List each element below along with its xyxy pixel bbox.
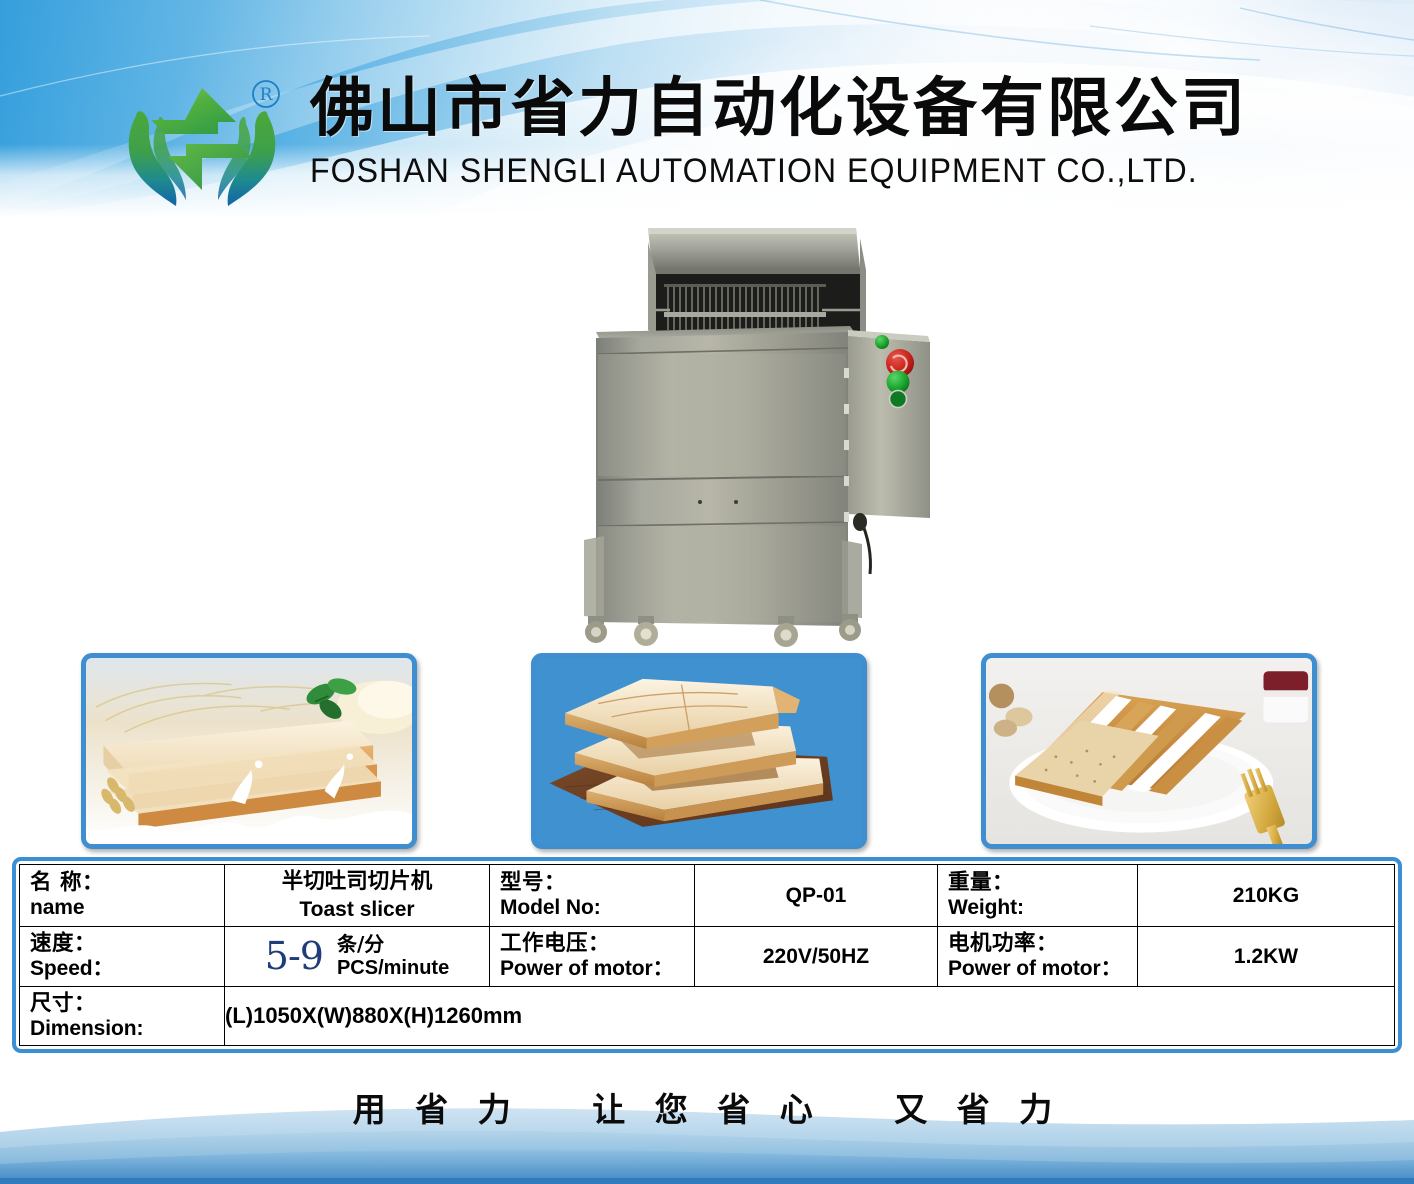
label-weight-cn: 重量：: [948, 871, 1133, 895]
label-model-en: Model No:: [500, 896, 690, 920]
company-slogan: 用 省 力 让 您 省 心 又 省 力: [0, 1083, 1414, 1131]
stacked-toast-with-mint-image: [86, 658, 412, 844]
company-name-en: FOSHAN SHENGLI AUTOMATION EQUIPMENT CO.,…: [310, 150, 1249, 193]
cell-value-dimension: (L)1050X(W)880X(H)1260mm: [225, 986, 1395, 1046]
toast-slicer-illustration: [560, 218, 960, 648]
cell-label-speed: 速度： Speed：: [20, 926, 225, 986]
specification-table: 名 称： name 半切吐司切片机 Toast slicer 型号： Model…: [19, 864, 1395, 1046]
label-motor-power-en: Power of motor：: [948, 957, 1133, 981]
label-dimension-cn: 尺寸：: [30, 992, 220, 1016]
machine-photo: [560, 218, 960, 648]
value-product-name-en: Toast slicer: [231, 897, 483, 922]
label-dimension-en: Dimension:: [30, 1017, 220, 1041]
cell-value-speed: 5-9 条/分 PCS/minute: [225, 926, 490, 986]
page-header: R 佛山市省力自动化设备有限公司 FOSHAN SHENGLI AUTOMATI…: [0, 0, 1414, 218]
toast-with-cream-on-plate-image: [986, 658, 1312, 844]
cell-label-motor-power: 电机功率： Power of motor：: [938, 926, 1138, 986]
cell-value-motor-power: 1.2KW: [1138, 926, 1395, 986]
slogan-part-2: 让 您 省 心: [592, 1090, 821, 1129]
toast-slices-on-board-image: [536, 658, 862, 844]
spec-table-frame: 名 称： name 半切吐司切片机 Toast slicer 型号： Model…: [12, 857, 1402, 1053]
label-voltage-en: Power of motor：: [500, 957, 690, 981]
table-row-name: 名 称： name 半切吐司切片机 Toast slicer 型号： Model…: [20, 865, 1395, 927]
label-motor-power-cn: 电机功率：: [948, 932, 1133, 956]
slogan-part-3: 又 省 力: [894, 1090, 1061, 1129]
company-name-cn: 佛山市省力自动化设备有限公司: [310, 74, 1320, 146]
cell-label-weight: 重量： Weight:: [938, 865, 1138, 927]
value-product-name-cn: 半切吐司切片机: [231, 869, 483, 895]
speed-unit-cn: 条/分: [337, 933, 449, 955]
label-name-en: name: [30, 896, 220, 920]
product-photo-1: [81, 653, 417, 849]
speed-unit-en: PCS/minute: [337, 957, 449, 979]
value-speed-number: 5-9: [265, 937, 323, 975]
shengli-s-logo: R: [118, 72, 286, 214]
product-photo-3: [981, 653, 1317, 849]
registered-mark: R: [260, 85, 274, 105]
cell-value-weight: 210KG: [1138, 865, 1395, 927]
cell-label-voltage: 工作电压： Power of motor：: [490, 926, 695, 986]
label-speed-en: Speed：: [30, 957, 220, 981]
label-model-cn: 型号：: [500, 871, 690, 895]
label-weight-en: Weight:: [948, 896, 1133, 920]
cell-label-dimension: 尺寸： Dimension:: [20, 986, 225, 1046]
cell-value-model: QP-01: [695, 865, 938, 927]
label-name-cn: 名 称：: [30, 871, 220, 895]
slogan-part-1: 用 省 力: [353, 1090, 520, 1129]
cell-value-voltage: 220V/50HZ: [695, 926, 938, 986]
label-voltage-cn: 工作电压：: [500, 932, 690, 956]
cell-value-product-name: 半切吐司切片机 Toast slicer: [225, 865, 490, 927]
label-speed-cn: 速度：: [30, 932, 220, 956]
table-row-speed: 速度： Speed： 5-9 条/分 PCS/minute 工作电压： Powe…: [20, 926, 1395, 986]
product-photo-2: [531, 653, 867, 849]
cell-label-name: 名 称： name: [20, 865, 225, 927]
company-title-block: 佛山市省力自动化设备有限公司 FOSHAN SHENGLI AUTOMATION…: [310, 74, 1320, 193]
table-row-dimension: 尺寸： Dimension: (L)1050X(W)880X(H)1260mm: [20, 986, 1395, 1046]
cell-label-model: 型号： Model No:: [490, 865, 695, 927]
